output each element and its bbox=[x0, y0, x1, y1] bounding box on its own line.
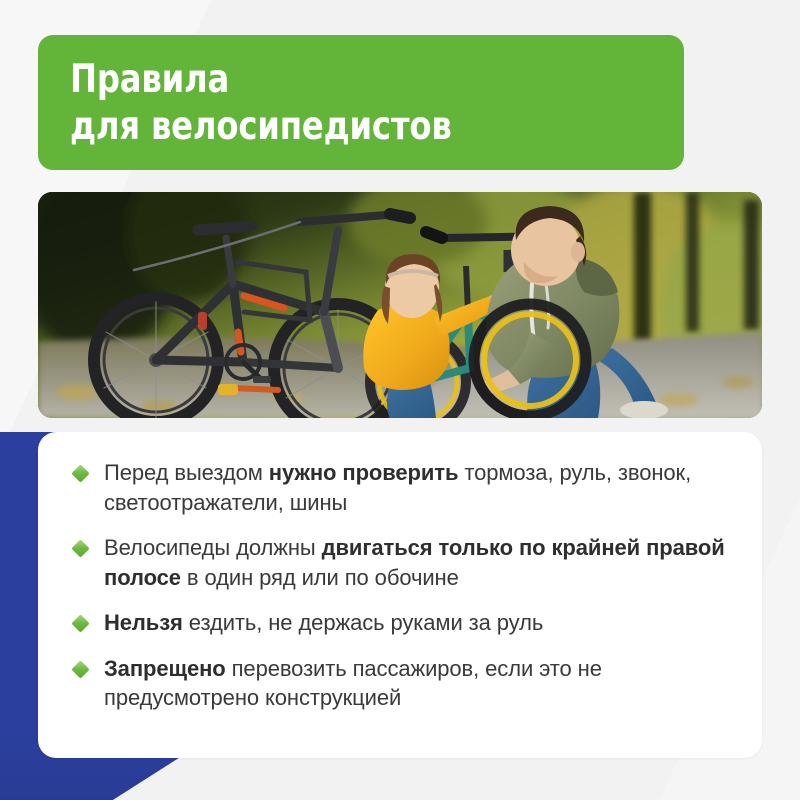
diamond-icon bbox=[71, 464, 89, 482]
rule-item-2: Велосипеды должны двигаться только по кр… bbox=[72, 533, 728, 592]
rule-text-2: Велосипеды должны двигаться только по кр… bbox=[104, 533, 728, 592]
diamond-icon bbox=[71, 614, 89, 632]
diamond-icon bbox=[71, 539, 89, 557]
hero-photo bbox=[38, 192, 762, 418]
rule-text-4: Запрещено перевозить пассажиров, если эт… bbox=[104, 654, 728, 713]
photo-illustration bbox=[38, 192, 762, 418]
rule-item-4: Запрещено перевозить пассажиров, если эт… bbox=[72, 654, 728, 713]
rule-text-3: Нельзя ездить, не держась руками за руль bbox=[104, 608, 728, 638]
title-card: Правила для велосипедистов bbox=[38, 35, 684, 170]
rule-item-1: Перед выездом нужно проверить тормоза, р… bbox=[72, 458, 728, 517]
page-title-line-2: для велосипедистов bbox=[70, 103, 635, 150]
rules-card: Перед выездом нужно проверить тормоза, р… bbox=[38, 432, 762, 758]
rule-text-1: Перед выездом нужно проверить тормоза, р… bbox=[104, 458, 728, 517]
rule-item-3: Нельзя ездить, не держась руками за руль bbox=[72, 608, 728, 638]
page-title-line-1: Правила bbox=[70, 56, 635, 103]
diamond-icon bbox=[71, 660, 89, 678]
